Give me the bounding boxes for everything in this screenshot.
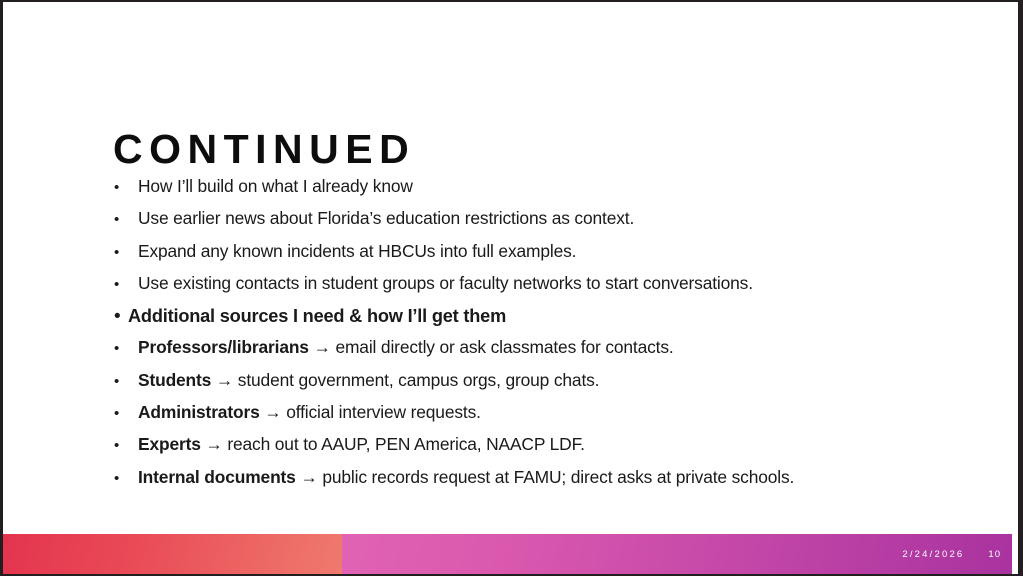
list-item: •How I’ll build on what I already know <box>113 178 943 210</box>
list-item-body: → public records request at FAMU; direct… <box>296 467 795 487</box>
list-item: •Use existing contacts in student groups… <box>113 275 943 307</box>
list-item-text: Administrators → official interview requ… <box>138 404 943 421</box>
list-item-text: Additional sources I need & how I’ll get… <box>128 307 943 325</box>
list-item-text: Use earlier news about Florida’s educati… <box>138 210 943 227</box>
footer-page-number: 10 <box>988 549 1001 560</box>
footer-gradient-right: 2/24/2026 10 <box>342 534 1018 574</box>
list-item: •Experts → reach out to AAUP, PEN Americ… <box>113 436 943 468</box>
list-item-lead: Internal documents <box>138 467 296 487</box>
footer-date: 2/24/2026 <box>902 549 964 560</box>
footer-bar: 2/24/2026 10 <box>3 534 1018 574</box>
footer-gradient-left <box>3 534 342 574</box>
list-item-body: → reach out to AAUP, PEN America, NAACP … <box>201 434 585 454</box>
list-item-lead: Experts <box>138 434 201 454</box>
list-item-text: How I’ll build on what I already know <box>138 178 943 195</box>
bullet-list: •How I’ll build on what I already know•U… <box>113 178 943 501</box>
list-item-body: → official interview requests. <box>260 402 481 422</box>
bullet-point-icon: • <box>113 438 138 453</box>
list-item-lead: Students <box>138 370 211 390</box>
list-item-body: → email directly or ask classmates for c… <box>309 337 674 357</box>
footer-edge-cap <box>1012 534 1018 574</box>
footer-meta: 2/24/2026 10 <box>902 534 1001 574</box>
list-item-text: Experts → reach out to AAUP, PEN America… <box>138 436 943 453</box>
bullet-point-icon: • <box>113 307 128 326</box>
list-item: •Administrators → official interview req… <box>113 404 943 436</box>
bullet-point-icon: • <box>113 277 138 292</box>
list-item-lead: Professors/librarians <box>138 337 309 357</box>
list-item-body: → student government, campus orgs, group… <box>211 370 599 390</box>
bullet-point-icon: • <box>113 374 138 389</box>
bullet-point-icon: • <box>113 406 138 421</box>
bullet-point-icon: • <box>113 180 138 195</box>
list-item: •Additional sources I need & how I’ll ge… <box>113 307 943 339</box>
list-item: •Expand any known incidents at HBCUs int… <box>113 243 943 275</box>
slide-canvas: CONTINUED •How I’ll build on what I alre… <box>3 2 1018 574</box>
list-item: •Internal documents → public records req… <box>113 469 943 501</box>
list-item-text: Use existing contacts in student groups … <box>138 275 943 292</box>
list-item-lead: Administrators <box>138 402 260 422</box>
bullet-point-icon: • <box>113 245 138 260</box>
list-item-text: Internal documents → public records requ… <box>138 469 943 486</box>
slide: CONTINUED •How I’ll build on what I alre… <box>0 0 1023 576</box>
list-item: •Use earlier news about Florida’s educat… <box>113 210 943 242</box>
bullet-point-icon: • <box>113 471 138 486</box>
list-item: •Students → student government, campus o… <box>113 372 943 404</box>
list-item: •Professors/librarians → email directly … <box>113 339 943 371</box>
page-title: CONTINUED <box>113 126 415 172</box>
bullet-point-icon: • <box>113 212 138 227</box>
list-item-text: Expand any known incidents at HBCUs into… <box>138 243 943 260</box>
list-item-text: Professors/librarians → email directly o… <box>138 339 943 356</box>
bullet-point-icon: • <box>113 341 138 356</box>
list-item-text: Students → student government, campus or… <box>138 372 943 389</box>
